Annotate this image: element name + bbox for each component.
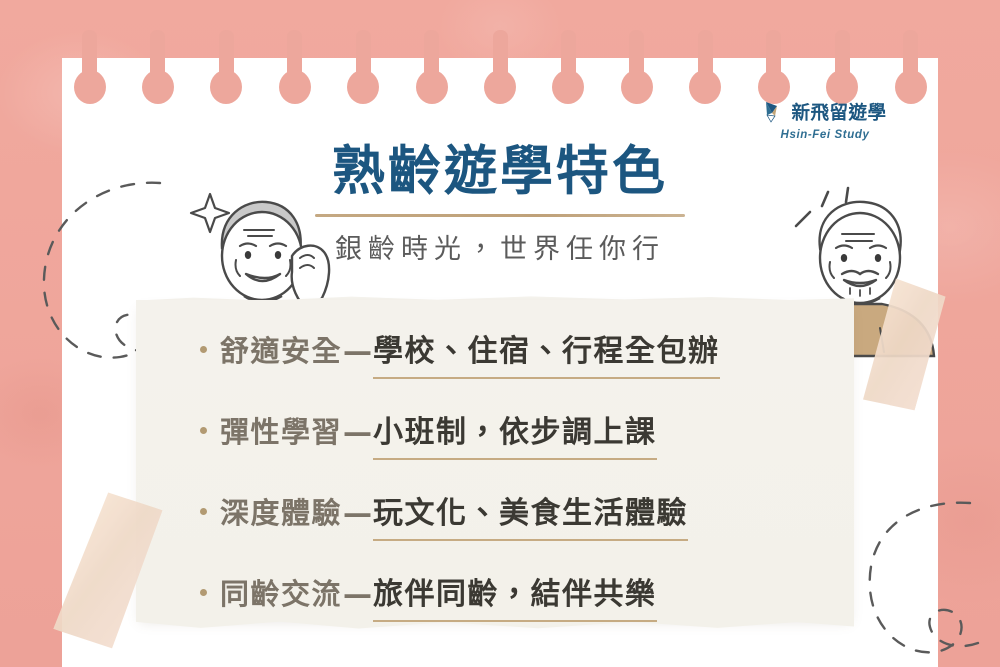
feature-separator: — xyxy=(343,415,372,449)
feature-separator: — xyxy=(343,577,372,611)
feature-separator: — xyxy=(343,496,372,530)
feature-list: 舒適安全—學校、住宿、行程全包辦彈性學習—小班制，依步調上課深度體驗—玩文化、美… xyxy=(136,300,854,620)
feature-bullet-icon xyxy=(200,427,207,434)
feature-item: 同齡交流—旅伴同齡，結伴共樂 xyxy=(200,569,854,622)
feature-bullet-icon xyxy=(200,589,207,596)
feature-value: 學校、住宿、行程全包辦 xyxy=(373,326,720,379)
feature-item: 舒適安全—學校、住宿、行程全包辦 xyxy=(200,326,854,379)
feature-value: 小班制，依步調上課 xyxy=(373,407,657,460)
feature-bullet-icon xyxy=(200,508,207,515)
feature-item: 彈性學習—小班制，依步調上課 xyxy=(200,407,854,460)
brand-logo[interactable]: 新飛留遊學 Hsin-Fei Study xyxy=(750,100,900,141)
kite-diamond-icon xyxy=(763,100,789,126)
feature-value: 玩文化、美食生活體驗 xyxy=(373,488,688,541)
logo-chinese-name: 新飛留遊學 xyxy=(791,104,886,123)
title-divider xyxy=(315,214,685,217)
feature-label: 同齡交流 xyxy=(220,571,342,613)
logo-english-name: Hsin-Fei Study xyxy=(750,129,900,141)
feature-item: 深度體驗—玩文化、美食生活體驗 xyxy=(200,488,854,541)
sparkle-icon xyxy=(191,194,229,232)
feature-value: 旅伴同齡，結伴共樂 xyxy=(373,569,657,622)
feature-label: 舒適安全 xyxy=(220,328,342,370)
poster-canvas: 新飛留遊學 Hsin-Fei Study xyxy=(0,0,1000,667)
feature-bullet-icon xyxy=(200,346,207,353)
feature-label: 彈性學習 xyxy=(220,409,342,451)
feature-separator: — xyxy=(343,334,372,368)
poster-header: 新飛留遊學 Hsin-Fei Study xyxy=(62,58,938,303)
feature-label: 深度體驗 xyxy=(220,490,342,532)
